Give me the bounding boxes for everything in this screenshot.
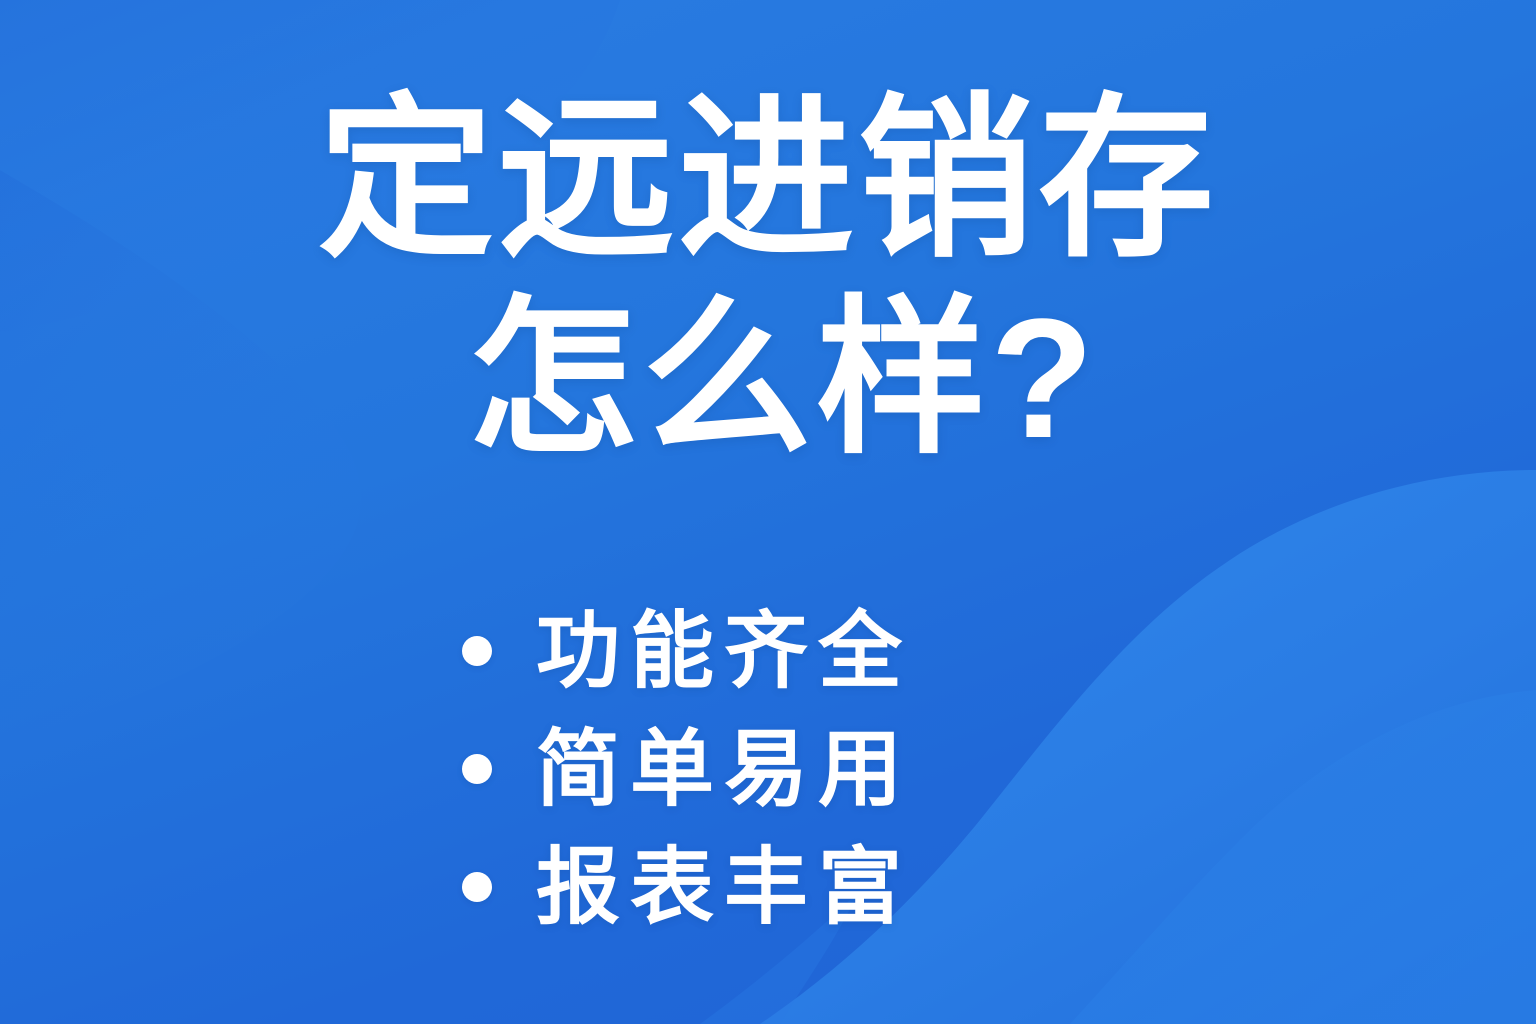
feature-label: 报表丰富 bbox=[536, 845, 912, 929]
headline-line-1: 定远进销存 bbox=[0, 86, 1536, 274]
bullet-dot-icon bbox=[462, 872, 492, 902]
bullet-dot-icon bbox=[462, 636, 492, 666]
list-item: 报表丰富 bbox=[462, 828, 1162, 946]
page-title: 定远进销存 怎么样? bbox=[0, 86, 1536, 472]
poster-content: 定远进销存 怎么样? 功能齐全 简单易用 报表丰富 bbox=[0, 0, 1536, 1024]
feature-label: 简单易用 bbox=[536, 727, 912, 811]
promo-poster: 定远进销存 怎么样? 功能齐全 简单易用 报表丰富 bbox=[0, 0, 1536, 1024]
feature-label: 功能齐全 bbox=[536, 609, 912, 693]
list-item: 功能齐全 bbox=[462, 592, 1162, 710]
headline-line-2: 怎么样? bbox=[0, 288, 1536, 472]
feature-list: 功能齐全 简单易用 报表丰富 bbox=[462, 592, 1162, 946]
bullet-dot-icon bbox=[462, 754, 492, 784]
list-item: 简单易用 bbox=[462, 710, 1162, 828]
